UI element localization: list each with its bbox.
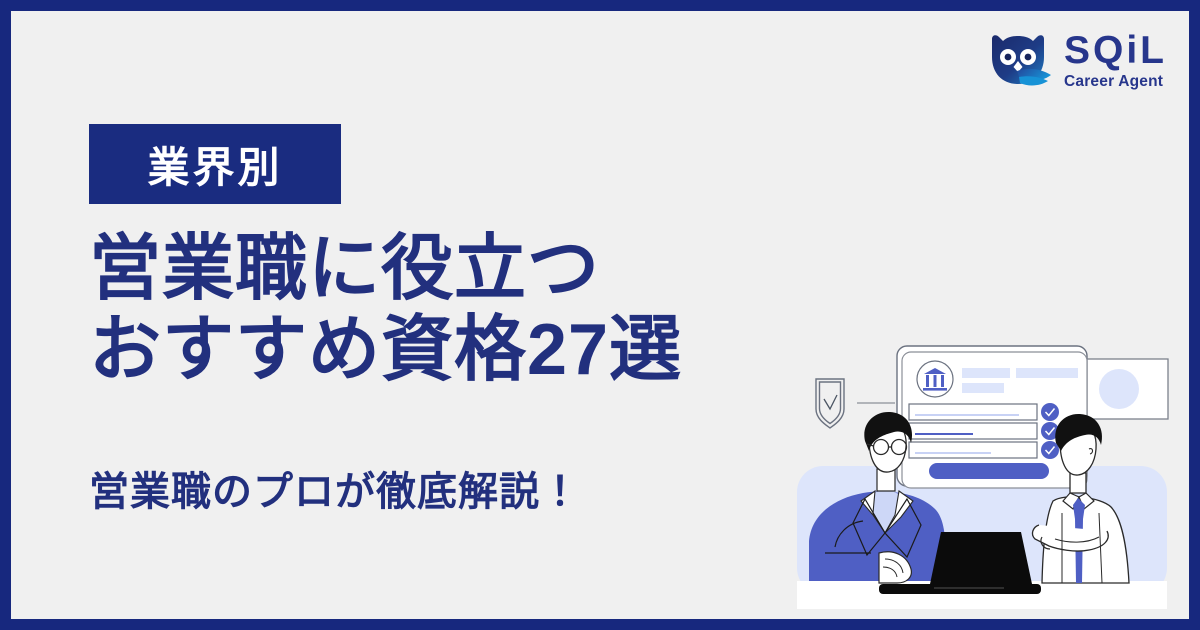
logo-wordmark: SQiL Career Agent [1064,31,1167,90]
page-title-line-1: 営業職に役立つ [89,229,682,310]
category-badge-label: 業界別 [147,134,282,195]
brand-logo: SQiL Career Agent [987,31,1167,90]
page-title-line-2: おすすめ資格27選 [89,310,682,391]
logo-brand-text: SQiL [1064,31,1167,70]
check-circle-icon [1041,441,1059,459]
page-title: 営業職に役立つ おすすめ資格27選 [89,229,682,390]
hero-illustration [789,341,1189,619]
bank-building-icon [917,361,953,397]
shield-check-icon [816,379,844,428]
logo-tagline-text: Career Agent [1064,74,1163,90]
page-subtitle: 営業職のプロが徹底解説！ [89,459,581,517]
category-badge: 業界別 [89,124,341,204]
owl-logo-icon [987,31,1053,89]
poster-canvas: SQiL Career Agent 業界別 営業職に役立つ おすすめ資格27選 … [11,11,1189,619]
check-circle-icon [1041,403,1059,421]
poster-frame: SQiL Career Agent 業界別 営業職に役立つ おすすめ資格27選 … [0,0,1200,630]
